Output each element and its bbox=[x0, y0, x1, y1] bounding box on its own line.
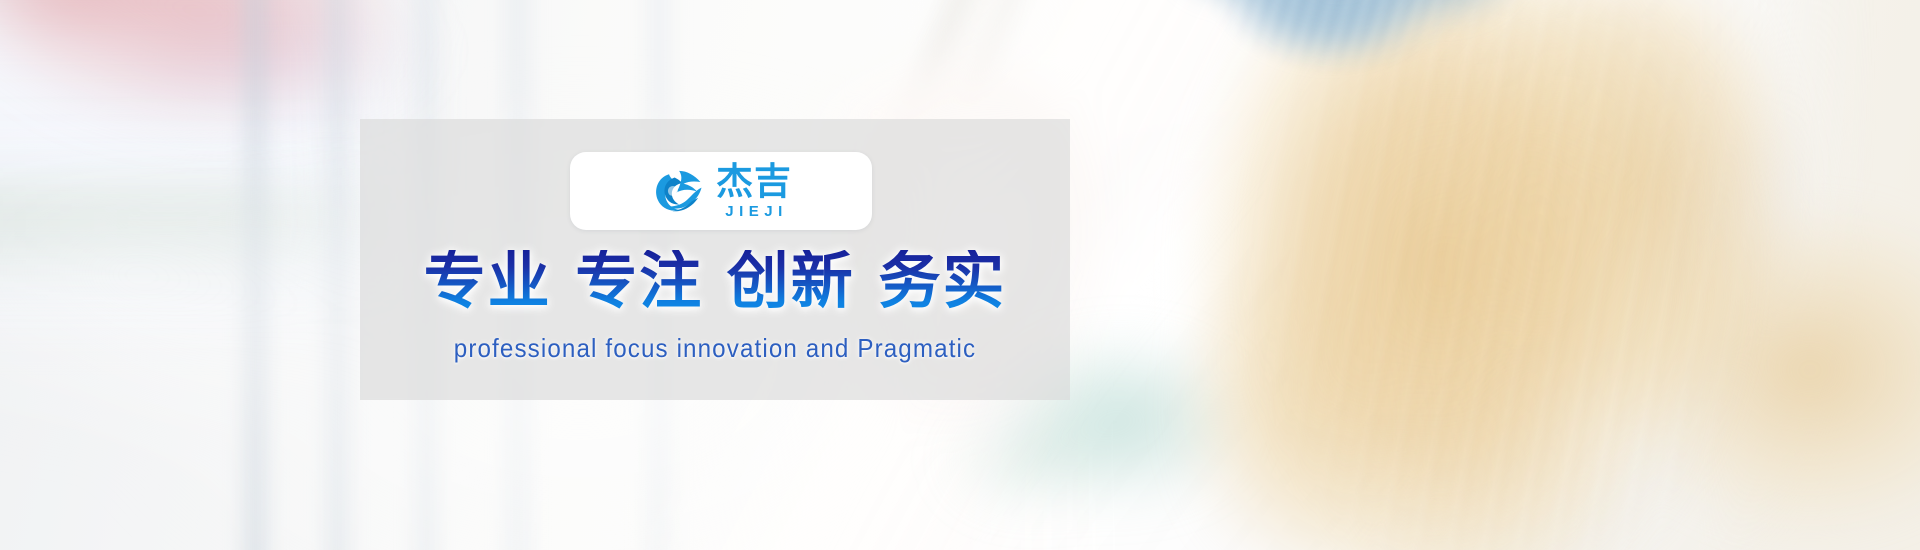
logo-latin-name: JIEJI bbox=[725, 204, 788, 219]
subtitle-slogan: professional focus innovation and Pragma… bbox=[385, 333, 1045, 364]
logo-wordmark: 杰吉 JIEJI bbox=[716, 163, 792, 219]
logo-badge[interactable]: 杰吉 JIEJI bbox=[570, 152, 872, 230]
promotional-banner: 杰吉 JIEJI 专业 专注 创新 务实 professional focus … bbox=[0, 0, 1920, 550]
logo-chinese-name: 杰吉 bbox=[716, 163, 792, 200]
jieji-swoosh-vortex-icon bbox=[650, 163, 706, 219]
headline-slogan: 专业 专注 创新 务实 bbox=[360, 250, 1070, 312]
